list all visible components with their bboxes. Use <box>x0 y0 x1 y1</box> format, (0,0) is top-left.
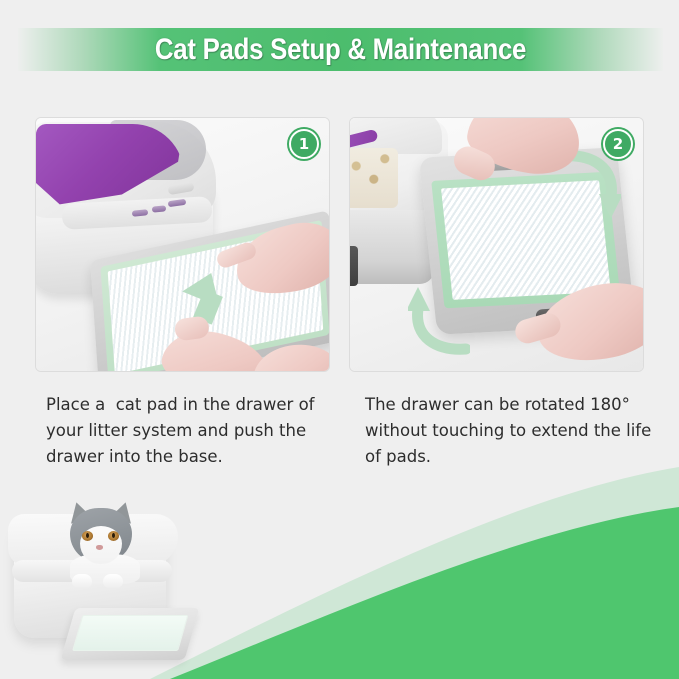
step-2-caption: The drawer can be rotated 180° without t… <box>365 392 655 470</box>
swoosh-solid-band <box>170 507 679 679</box>
cat-pad-in-drawer <box>72 615 188 651</box>
step-panel-2: 2 <box>349 117 644 372</box>
pad-drawer-extended <box>61 608 200 660</box>
litter-granules <box>349 148 398 208</box>
rotation-arrow-counterclockwise-icon <box>408 285 470 355</box>
step-panel-1: 1 <box>35 117 330 372</box>
cat-eye-right <box>108 531 119 541</box>
step-1-caption: Place a cat pad in the drawer of your li… <box>46 392 332 470</box>
step-1-illustration <box>36 118 329 371</box>
cat-paw-left <box>72 574 92 588</box>
product-photo-cat-in-litter-box <box>8 500 223 672</box>
steps-container: 1 <box>0 117 679 379</box>
cat-nose <box>96 545 103 550</box>
litter-box-front <box>349 210 434 284</box>
page-title: Cat Pads Setup & Maintenance <box>63 28 618 71</box>
step-badge-1: 1 <box>289 129 319 159</box>
drawer-slot <box>349 246 358 286</box>
step-2-illustration <box>350 118 643 371</box>
cat-paw-right <box>103 574 123 588</box>
header-banner: Cat Pads Setup & Maintenance <box>18 28 663 71</box>
step-badge-2: 2 <box>603 129 633 159</box>
cat-eye-left <box>82 531 93 541</box>
swoosh-light-band <box>150 467 679 679</box>
